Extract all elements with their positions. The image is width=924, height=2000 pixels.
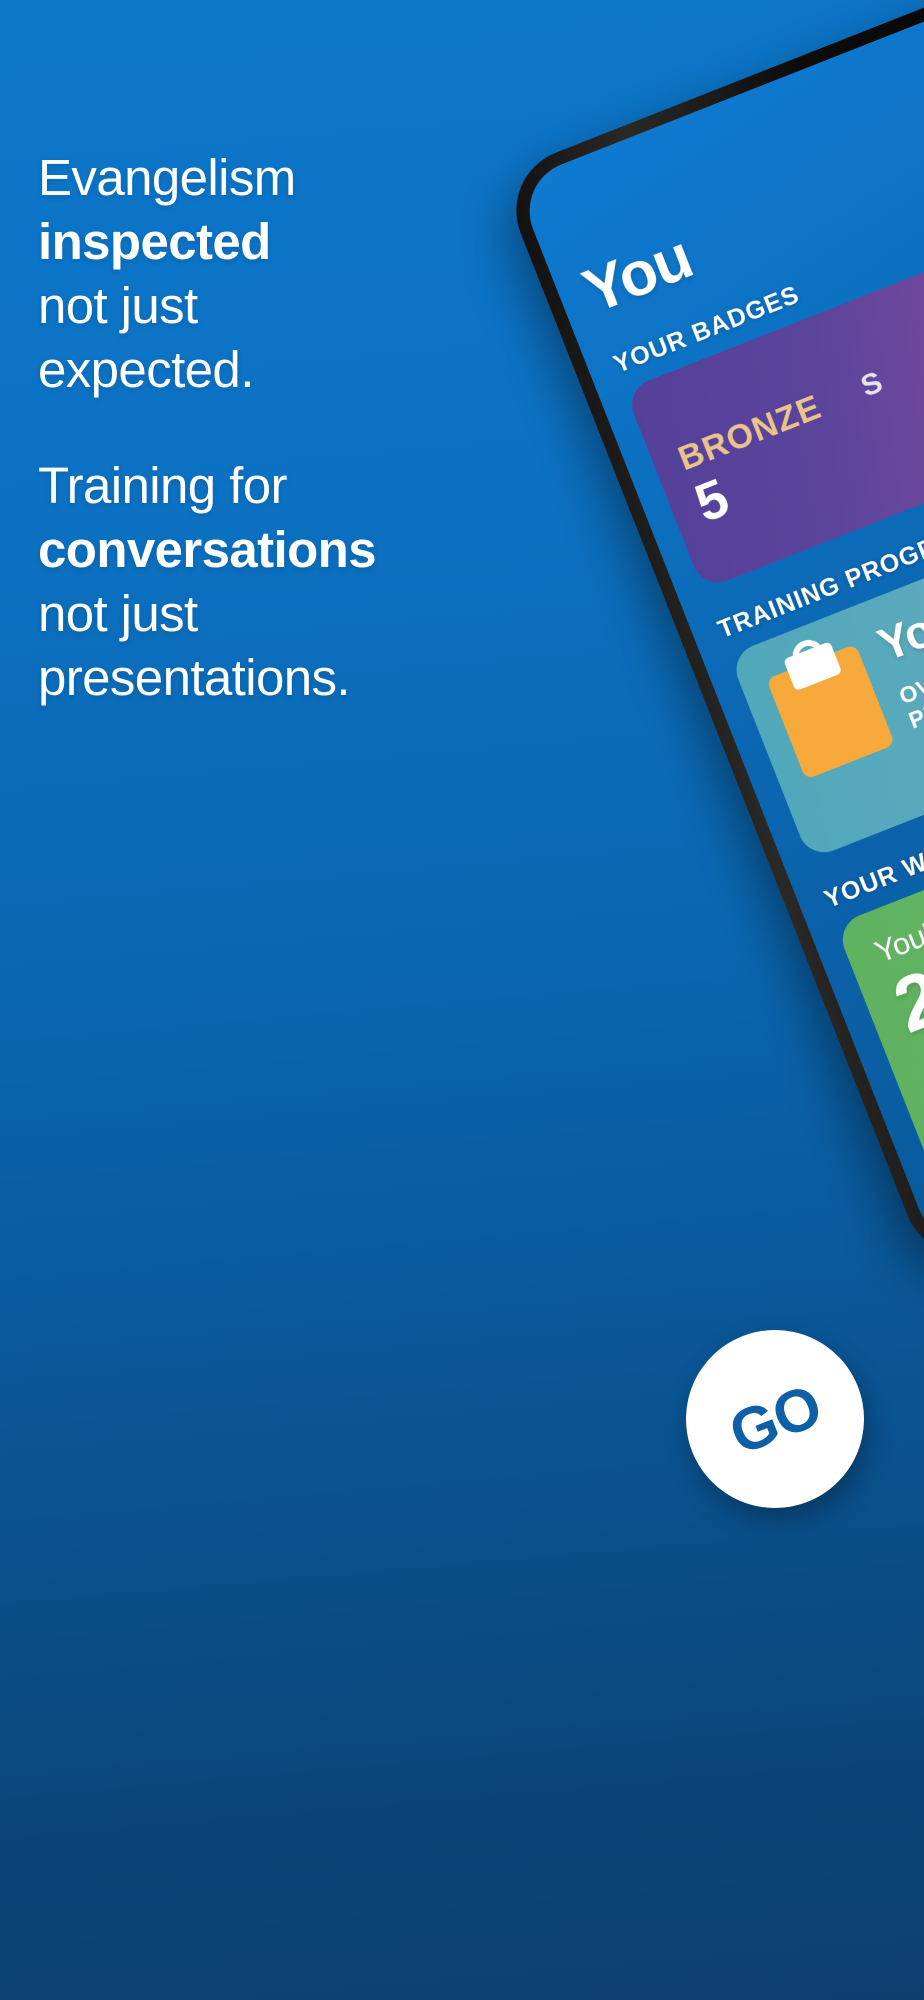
badge-secondary-block: S <box>856 366 887 404</box>
headline-paragraph-1: Evangelism inspected not just expected. <box>38 146 508 402</box>
badge-secondary-label: S <box>856 366 887 404</box>
headline-line: inspected <box>38 210 508 274</box>
marketing-copy: Evangelism inspected not just expected. … <box>38 146 508 710</box>
headline-line: presentations. <box>38 646 508 710</box>
headline-line: Training for <box>38 454 508 518</box>
headline-paragraph-2: Training for conversations not just pres… <box>38 454 508 710</box>
headline-line: Evangelism <box>38 146 508 210</box>
headline-line: not just <box>38 274 508 338</box>
headline-line: not just <box>38 582 508 646</box>
clipboard-icon <box>762 633 895 780</box>
go-button-label: GO <box>720 1370 830 1468</box>
headline-line: conversations <box>38 518 508 582</box>
greeting-heading: You <box>575 88 924 325</box>
headline-line: expected. <box>38 338 508 402</box>
training-headline: You're on Se <box>872 511 924 670</box>
